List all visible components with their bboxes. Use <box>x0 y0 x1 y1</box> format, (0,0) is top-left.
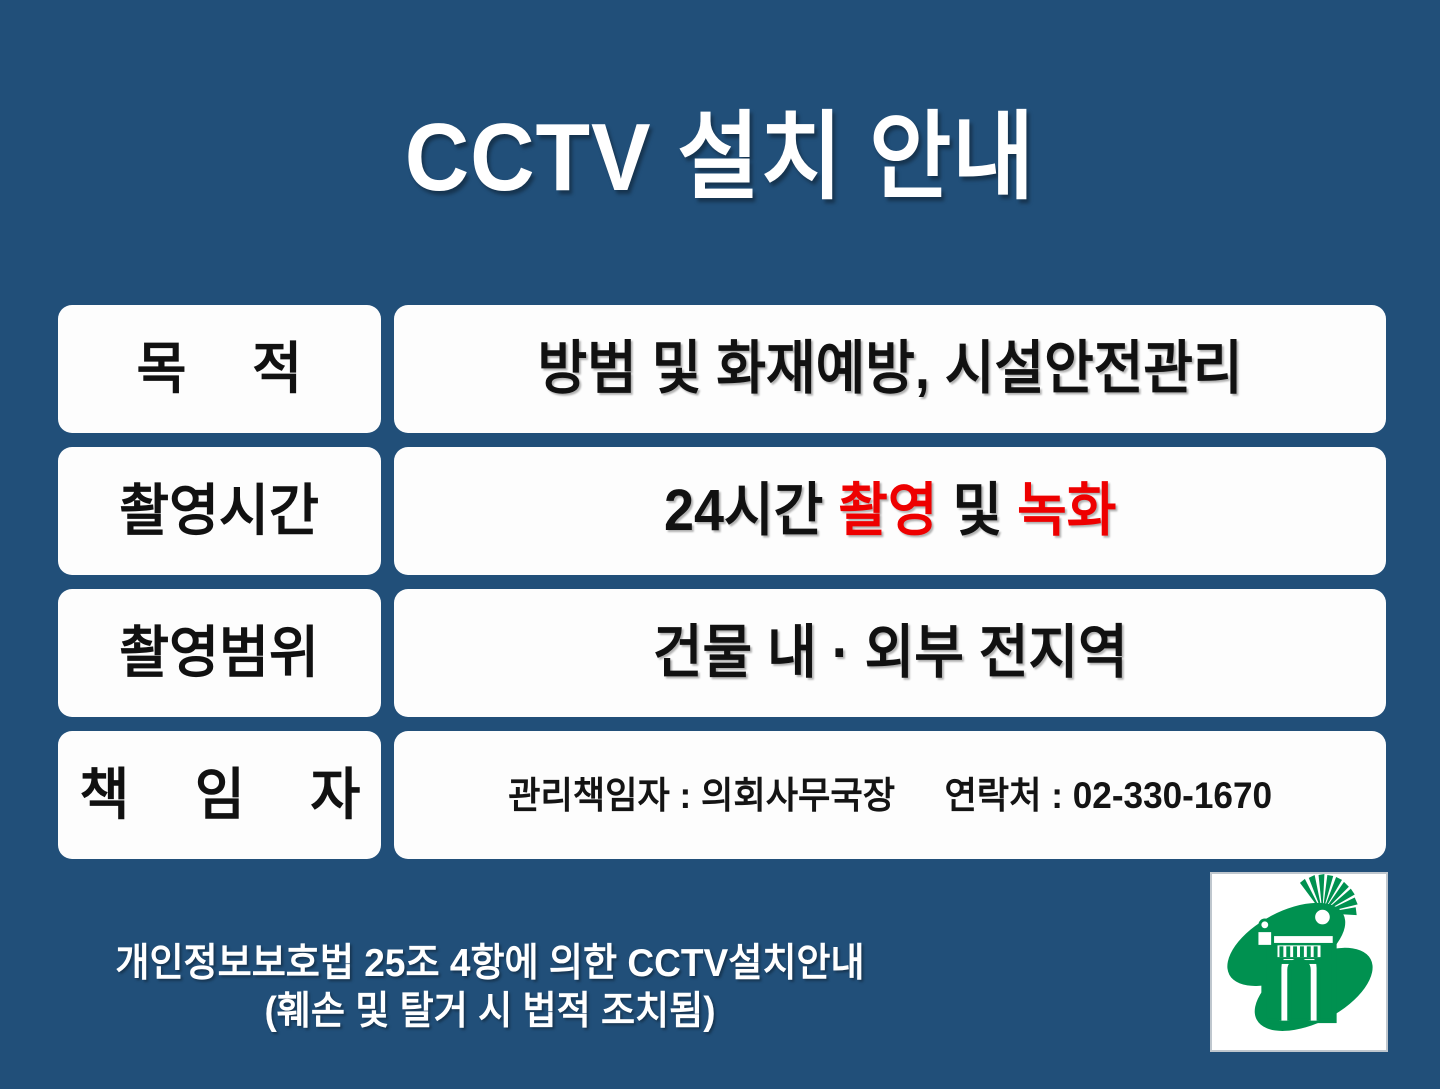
row-label-cell-purpose: 목 적 <box>58 305 381 433</box>
legal-footnote: 개인정보보호법 25조 4항에 의한 CCTV설치안내 (훼손 및 탈거 시 법… <box>53 940 927 1035</box>
page-title: CCTV 설치 안내 <box>50 110 1389 206</box>
recording-time-text-2-highlight: 촬영 <box>838 478 937 543</box>
organization-emblem <box>1210 872 1388 1052</box>
row-value-coverage: 건물 내 · 외부 전지역 <box>653 624 1128 682</box>
recording-time-text-1: 24시간 <box>664 478 838 543</box>
info-table: 목 적 방범 및 화재예방, 시설안전관리 촬영시간 24시간 촬영 및 녹화 … <box>58 305 1386 873</box>
table-row: 목 적 방범 및 화재예방, 시설안전관리 <box>58 305 1386 433</box>
row-label-recording-time: 촬영시간 <box>120 483 320 539</box>
independence-gate-emblem-icon <box>1212 874 1386 1050</box>
row-value-manager: 관리책임자 : 의회사무국장연락처 : 02-330-1670 <box>508 777 1272 814</box>
row-label-cell-recording-time: 촬영시간 <box>58 447 381 575</box>
recording-time-text-3: 및 <box>937 478 1017 543</box>
row-value-recording-time: 24시간 촬영 및 녹화 <box>664 482 1116 540</box>
legal-footnote-line-2: (훼손 및 탈거 시 법적 조치됨) <box>53 988 927 1036</box>
manager-name-text: 관리책임자 : 의회사무국장 <box>508 775 895 816</box>
recording-time-text-4-highlight: 녹화 <box>1017 478 1116 543</box>
row-value-cell-manager: 관리책임자 : 의회사무국장연락처 : 02-330-1670 <box>394 731 1386 859</box>
row-label-purpose: 목 적 <box>112 341 328 397</box>
row-label-cell-coverage: 촬영범위 <box>58 589 381 717</box>
legal-footnote-line-1: 개인정보보호법 25조 4항에 의한 CCTV설치안내 <box>53 940 927 988</box>
row-label-coverage: 촬영범위 <box>120 625 320 681</box>
row-label-cell-manager: 책 임 자 <box>58 731 381 859</box>
row-label-manager: 책 임 자 <box>58 767 381 823</box>
manager-contact-text: 연락처 : 02-330-1670 <box>944 775 1272 816</box>
row-value-purpose: 방범 및 화재예방, 시설안전관리 <box>537 340 1242 398</box>
row-value-cell-coverage: 건물 내 · 외부 전지역 <box>394 589 1386 717</box>
row-value-cell-recording-time: 24시간 촬영 및 녹화 <box>394 447 1386 575</box>
table-row: 촬영범위 건물 내 · 외부 전지역 <box>58 589 1386 717</box>
table-row: 책 임 자 관리책임자 : 의회사무국장연락처 : 02-330-1670 <box>58 731 1386 859</box>
table-row: 촬영시간 24시간 촬영 및 녹화 <box>58 447 1386 575</box>
row-value-cell-purpose: 방범 및 화재예방, 시설안전관리 <box>394 305 1386 433</box>
